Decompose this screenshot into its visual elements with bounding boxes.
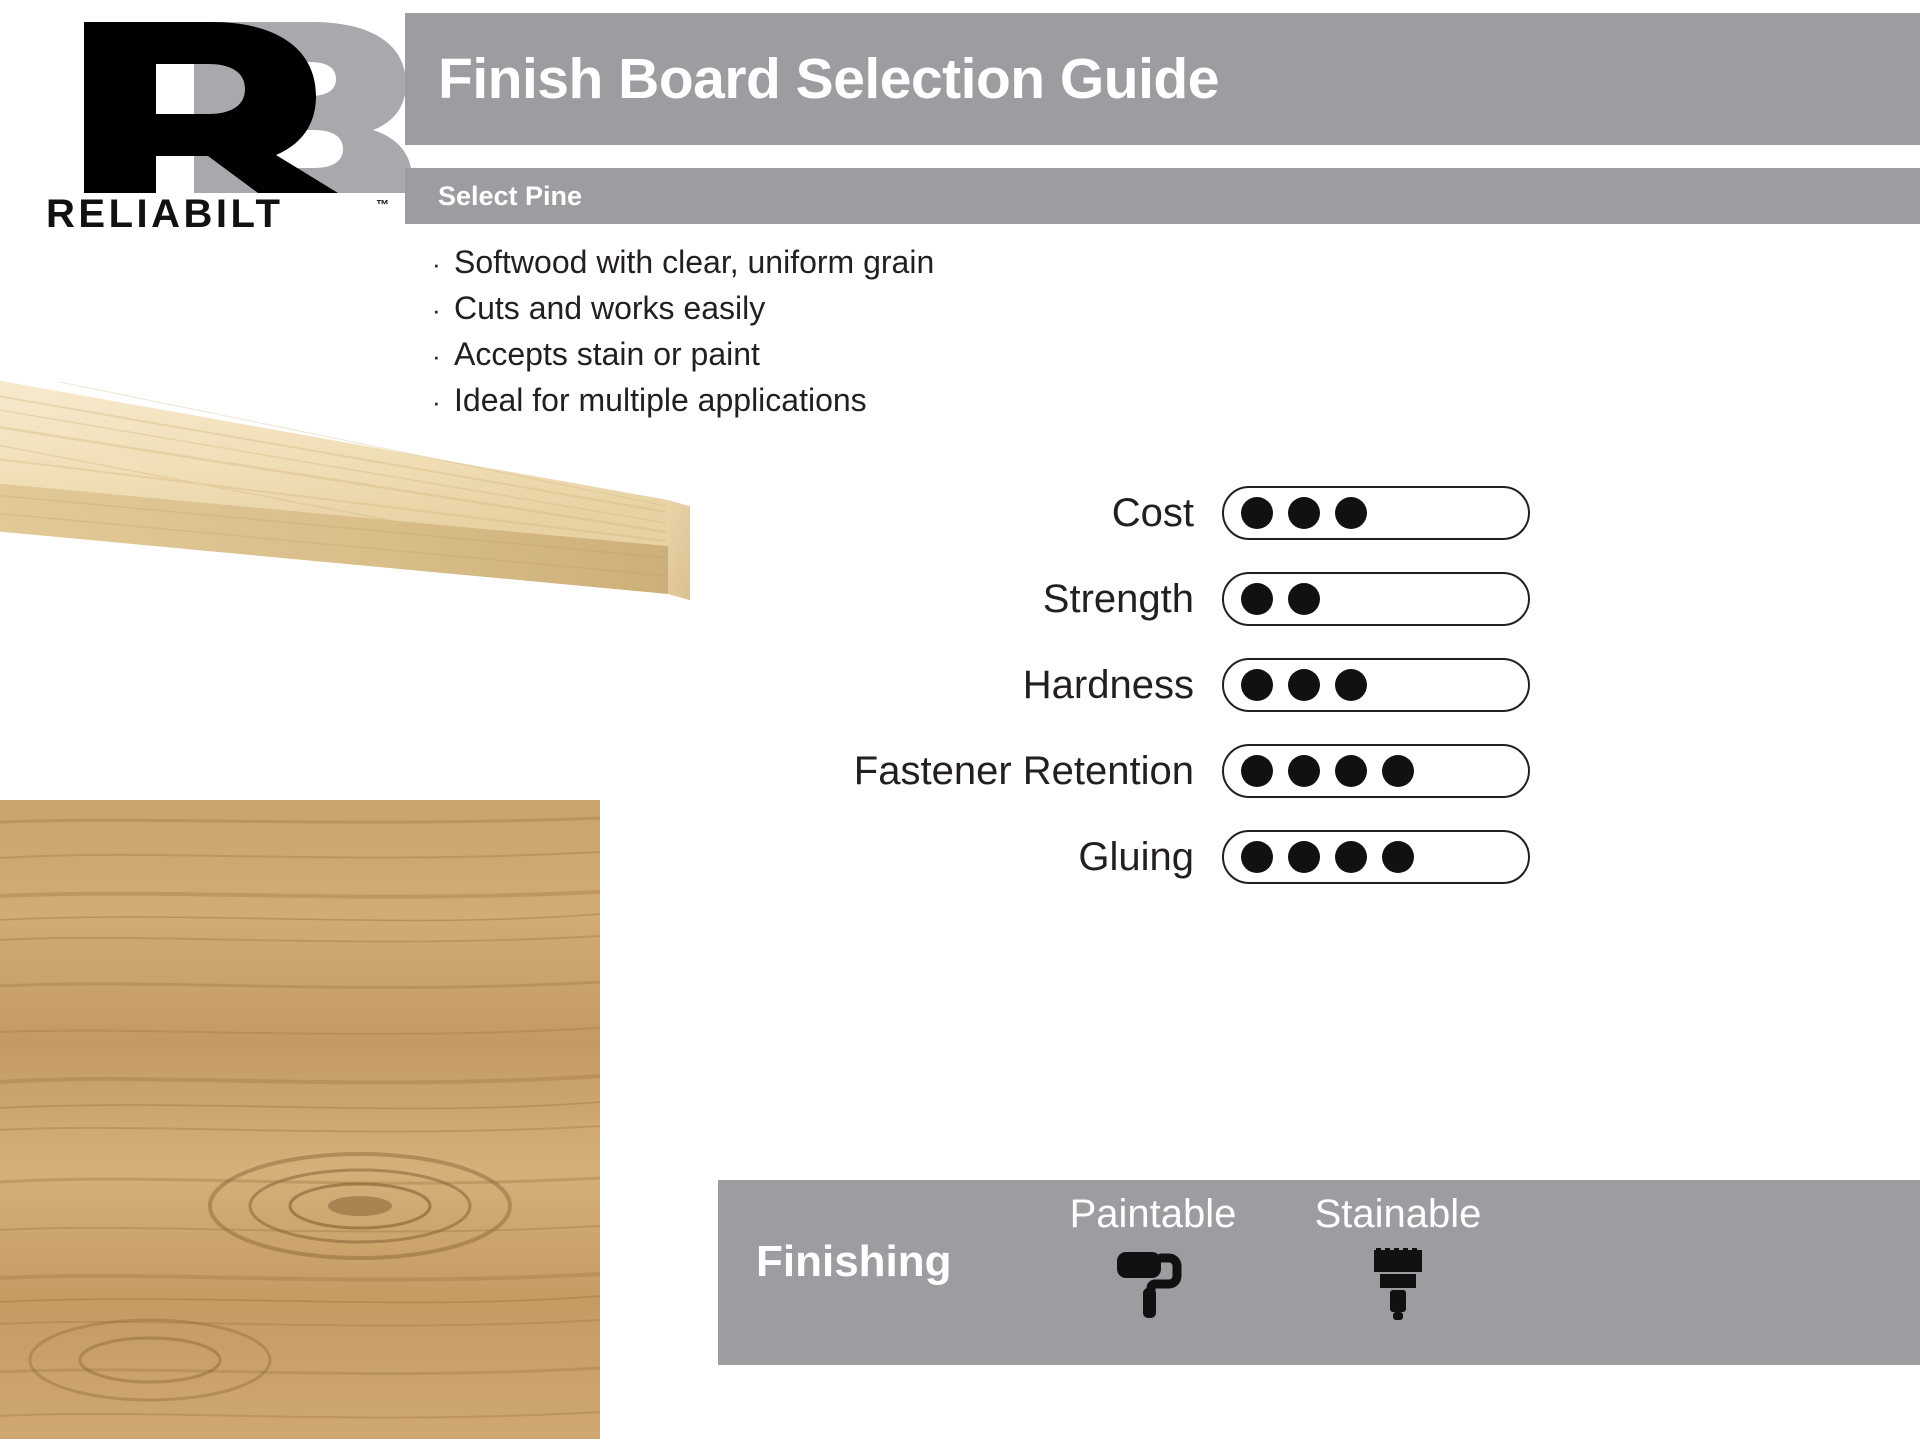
rating-dot bbox=[1241, 841, 1273, 873]
list-item: · Softwood with clear, uniform grain bbox=[432, 240, 1332, 286]
finishing-label: Finishing bbox=[756, 1240, 952, 1284]
board-photo bbox=[0, 360, 690, 760]
rating-dot bbox=[1241, 583, 1273, 615]
paint-roller-icon bbox=[1113, 1248, 1193, 1320]
rating-row-cost: Cost bbox=[700, 470, 1530, 556]
rating-dot bbox=[1335, 669, 1367, 701]
finishing-band: Finishing Paintable Stainable bbox=[718, 1180, 1920, 1365]
subtitle-band: Select Pine bbox=[405, 168, 1920, 224]
finishing-option-label: Stainable bbox=[1273, 1194, 1523, 1234]
reliabilt-logo: RELIABILT ™ bbox=[44, 18, 424, 233]
rating-row-gluing: Gluing bbox=[700, 814, 1530, 900]
list-item-label: Softwood with clear, uniform grain bbox=[454, 240, 1332, 284]
rating-dot bbox=[1241, 497, 1273, 529]
rating-dot bbox=[1241, 669, 1273, 701]
rating-meter bbox=[1222, 572, 1530, 626]
finishing-option-paintable: Paintable bbox=[1028, 1194, 1278, 1325]
rating-meter bbox=[1222, 744, 1530, 798]
rating-label: Hardness bbox=[1023, 665, 1222, 705]
rating-dot bbox=[1335, 841, 1367, 873]
list-item: · Cuts and works easily bbox=[432, 286, 1332, 332]
title-band: Finish Board Selection Guide bbox=[405, 13, 1920, 145]
rating-dot bbox=[1382, 841, 1414, 873]
list-item-label: Cuts and works easily bbox=[454, 286, 1332, 330]
rating-dot bbox=[1335, 497, 1367, 529]
rating-dot bbox=[1288, 669, 1320, 701]
bullet-icon: · bbox=[432, 242, 454, 286]
trademark-symbol: ™ bbox=[376, 197, 389, 212]
rating-dot bbox=[1241, 755, 1273, 787]
rating-meter bbox=[1222, 486, 1530, 540]
rating-meter bbox=[1222, 830, 1530, 884]
rating-dot bbox=[1288, 583, 1320, 615]
product-name: Select Pine bbox=[405, 183, 582, 210]
grain-closeup-photo bbox=[0, 800, 600, 1439]
reliabilt-wordmark: RELIABILT ™ bbox=[46, 193, 424, 237]
rating-meter bbox=[1222, 658, 1530, 712]
rating-label: Fastener Retention bbox=[854, 751, 1222, 791]
rating-label: Gluing bbox=[1078, 837, 1222, 877]
rating-dot bbox=[1382, 755, 1414, 787]
rating-label: Strength bbox=[1043, 579, 1222, 619]
rating-label: Cost bbox=[1112, 493, 1222, 533]
ratings-group: Cost Strength Hardness Fastener Ret bbox=[700, 470, 1530, 900]
finishing-option-stainable: Stainable bbox=[1273, 1194, 1523, 1325]
paint-brush-icon bbox=[1358, 1248, 1438, 1320]
page-title: Finish Board Selection Guide bbox=[405, 51, 1219, 108]
rating-dot bbox=[1288, 841, 1320, 873]
wordmark-text: RELIABILT bbox=[46, 193, 283, 236]
bullet-icon: · bbox=[432, 288, 454, 332]
finish-board-selection-guide-page: RELIABILT ™ Finish Board Selection Guide… bbox=[0, 0, 1920, 1439]
rating-row-fastener-retention: Fastener Retention bbox=[700, 728, 1530, 814]
rating-dot bbox=[1288, 755, 1320, 787]
rb-monogram-icon bbox=[44, 18, 424, 193]
rating-dot bbox=[1288, 497, 1320, 529]
rating-row-hardness: Hardness bbox=[700, 642, 1530, 728]
rating-dot bbox=[1335, 755, 1367, 787]
rating-row-strength: Strength bbox=[700, 556, 1530, 642]
finishing-option-label: Paintable bbox=[1028, 1194, 1278, 1234]
